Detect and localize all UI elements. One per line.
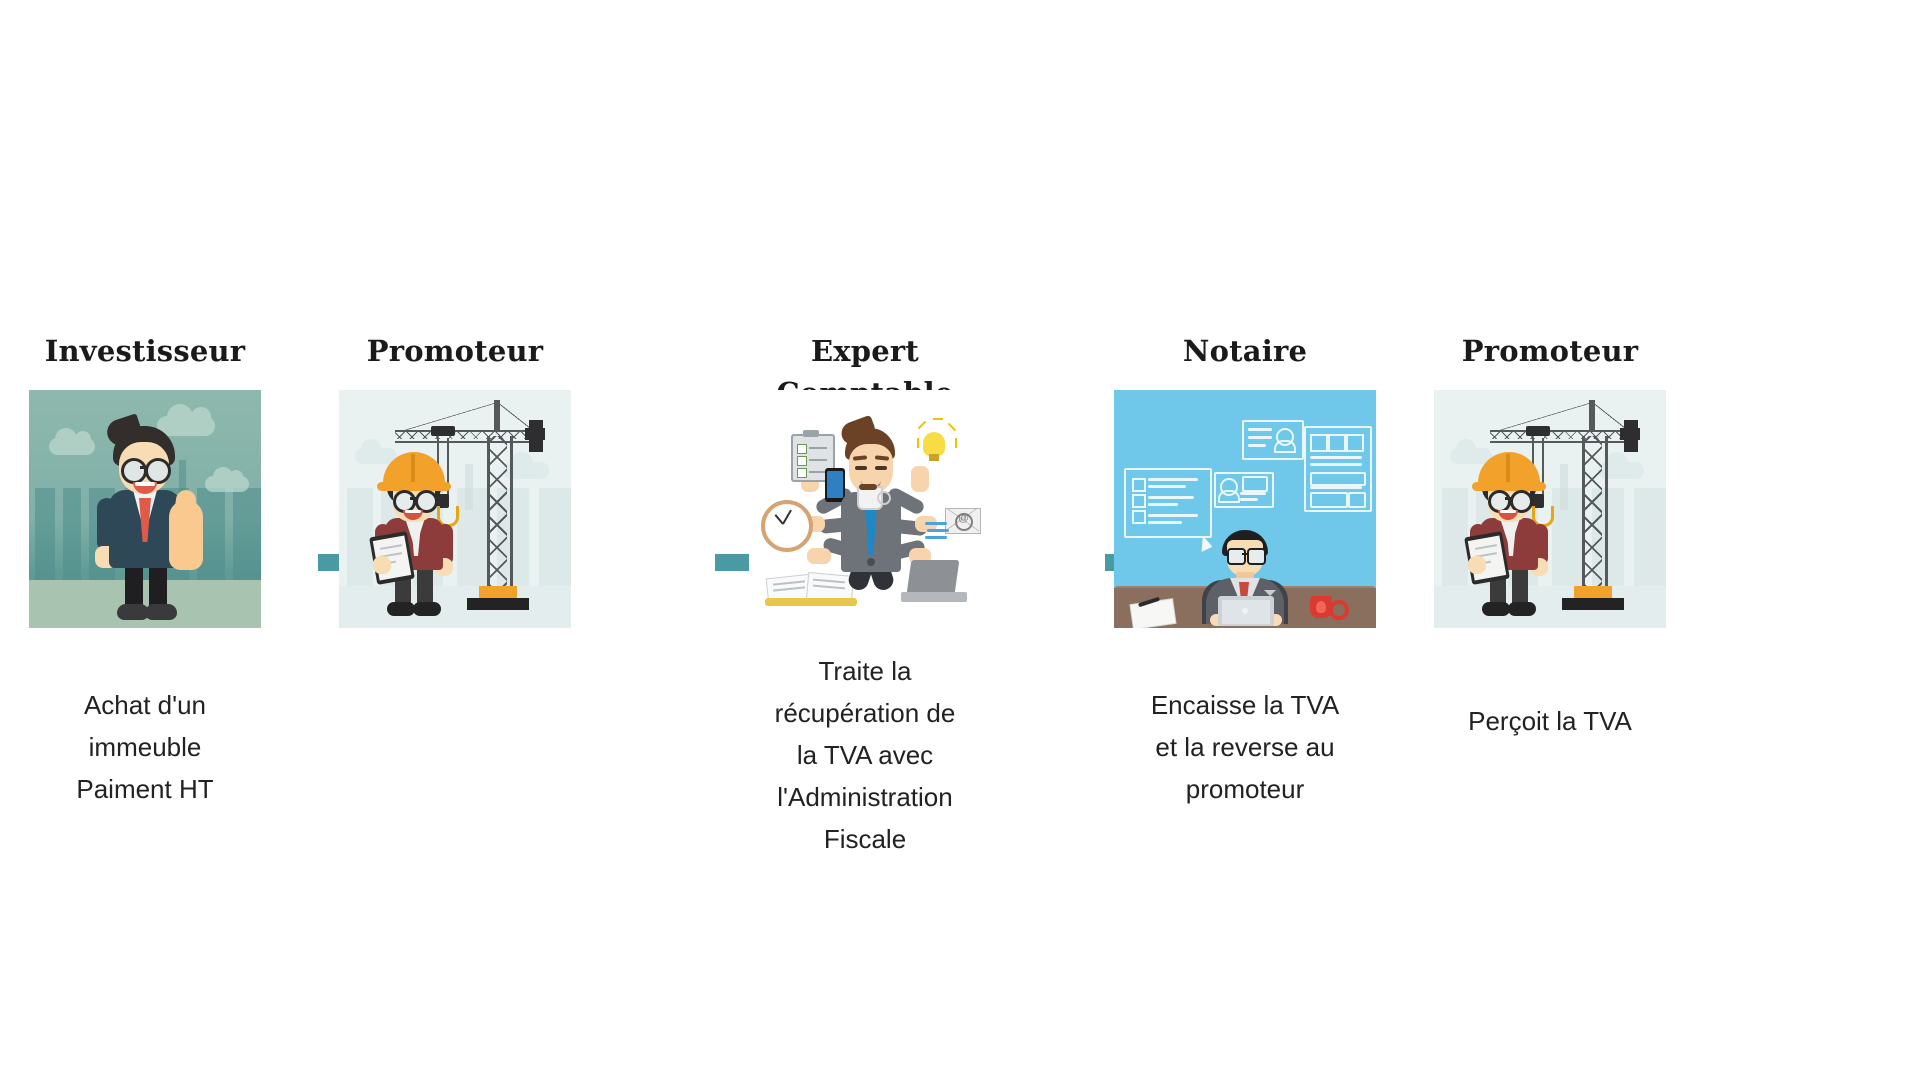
- construction-promoter-crane-illustration: [339, 390, 571, 628]
- step-title-expert-comptable: Expert Comptable: [715, 330, 1015, 390]
- step-title-notaire: Notaire: [1095, 330, 1395, 390]
- cloud-icon: [205, 476, 249, 492]
- step-title-investisseur: Investisseur: [0, 330, 295, 390]
- step-caption-investisseur: Achat d'un immeuble Paiment HT: [0, 684, 295, 810]
- construction-promoter-crane-illustration: [1434, 390, 1666, 628]
- flow-step-promoteur-1: Promoteur: [305, 330, 605, 684]
- flow-step-notaire: Notaire: [1095, 330, 1395, 810]
- step-caption-notaire: Encaisse la TVA et la reverse au promote…: [1095, 684, 1395, 810]
- lightbulb-icon: [923, 432, 945, 456]
- step-caption-promoteur-2: Perçoit la TVA: [1400, 700, 1700, 742]
- flow-step-investisseur: Investisseur: [0, 330, 295, 810]
- flow-step-promoteur-2: Promoteur: [1400, 330, 1700, 742]
- tva-flow-diagram: Investisseur: [0, 0, 1920, 1080]
- cloud-icon: [157, 416, 215, 436]
- laptop-icon: [907, 560, 960, 594]
- notary-at-desk-illustration: [1114, 390, 1376, 628]
- multitasking-accountant-illustration: [749, 390, 981, 628]
- investor-thumbs-up-illustration: [29, 390, 261, 628]
- flow-step-expert-comptable: Expert Comptable: [715, 330, 1015, 860]
- step-title-promoteur-1: Promoteur: [305, 330, 605, 390]
- step-title-promoteur-2: Promoteur: [1400, 330, 1700, 390]
- cloud-icon: [49, 438, 95, 455]
- clock-icon: [761, 500, 813, 552]
- step-caption-expert-comptable: Traite la récupération de la TVA avec l'…: [715, 650, 1015, 860]
